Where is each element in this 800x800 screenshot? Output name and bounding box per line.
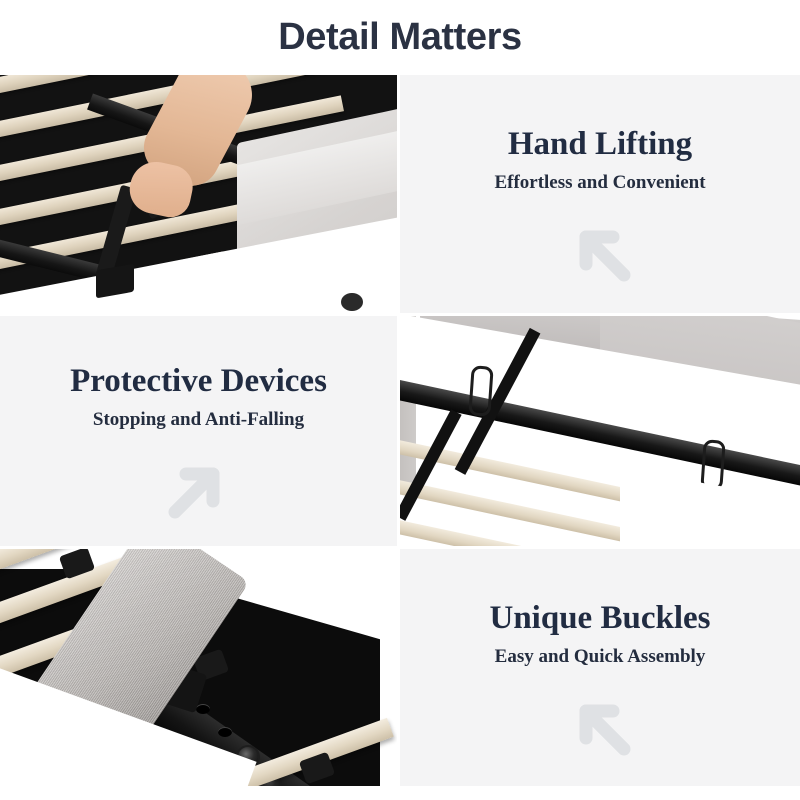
safety-buckle-loop	[468, 365, 493, 416]
panel-hand-lifting-photo	[0, 75, 397, 313]
feature-title: Hand Lifting	[508, 127, 692, 162]
panel-protective-devices-text: Protective Devices Stopping and Anti-Fal…	[0, 316, 397, 546]
panel-hand-lifting-text: Hand Lifting Effortless and Convenient	[400, 75, 800, 313]
photo-unique-buckles	[0, 549, 397, 786]
feature-subtitle: Easy and Quick Assembly	[495, 646, 706, 668]
photo-protective-devices	[400, 316, 800, 546]
arrow-up-left-icon	[565, 690, 635, 760]
page-title: Detail Matters	[278, 18, 522, 56]
page-header: Detail Matters	[0, 0, 800, 74]
rail-hole	[218, 727, 232, 737]
caster-wheel	[341, 293, 363, 311]
photo-hand-lifting	[0, 75, 397, 313]
arrow-up-right-icon	[164, 453, 234, 523]
feature-card-unique-buckles: Unique Buckles Easy and Quick Assembly	[400, 549, 800, 786]
feature-grid: Hand Lifting Effortless and Convenient	[0, 75, 800, 786]
panel-protective-devices-photo	[400, 316, 800, 546]
panel-unique-buckles-photo	[0, 549, 397, 786]
feature-subtitle: Stopping and Anti-Falling	[93, 409, 304, 431]
infographic-page: Detail Matters	[0, 0, 800, 800]
feature-card-protective-devices: Protective Devices Stopping and Anti-Fal…	[0, 316, 397, 546]
feature-card-hand-lifting: Hand Lifting Effortless and Convenient	[400, 75, 800, 313]
feature-title: Protective Devices	[70, 364, 327, 399]
rail-hole	[196, 704, 210, 714]
feature-subtitle: Effortless and Convenient	[494, 172, 705, 194]
feature-title: Unique Buckles	[490, 601, 711, 636]
panel-unique-buckles-text: Unique Buckles Easy and Quick Assembly	[400, 549, 800, 786]
arrow-up-left-icon	[565, 216, 635, 286]
